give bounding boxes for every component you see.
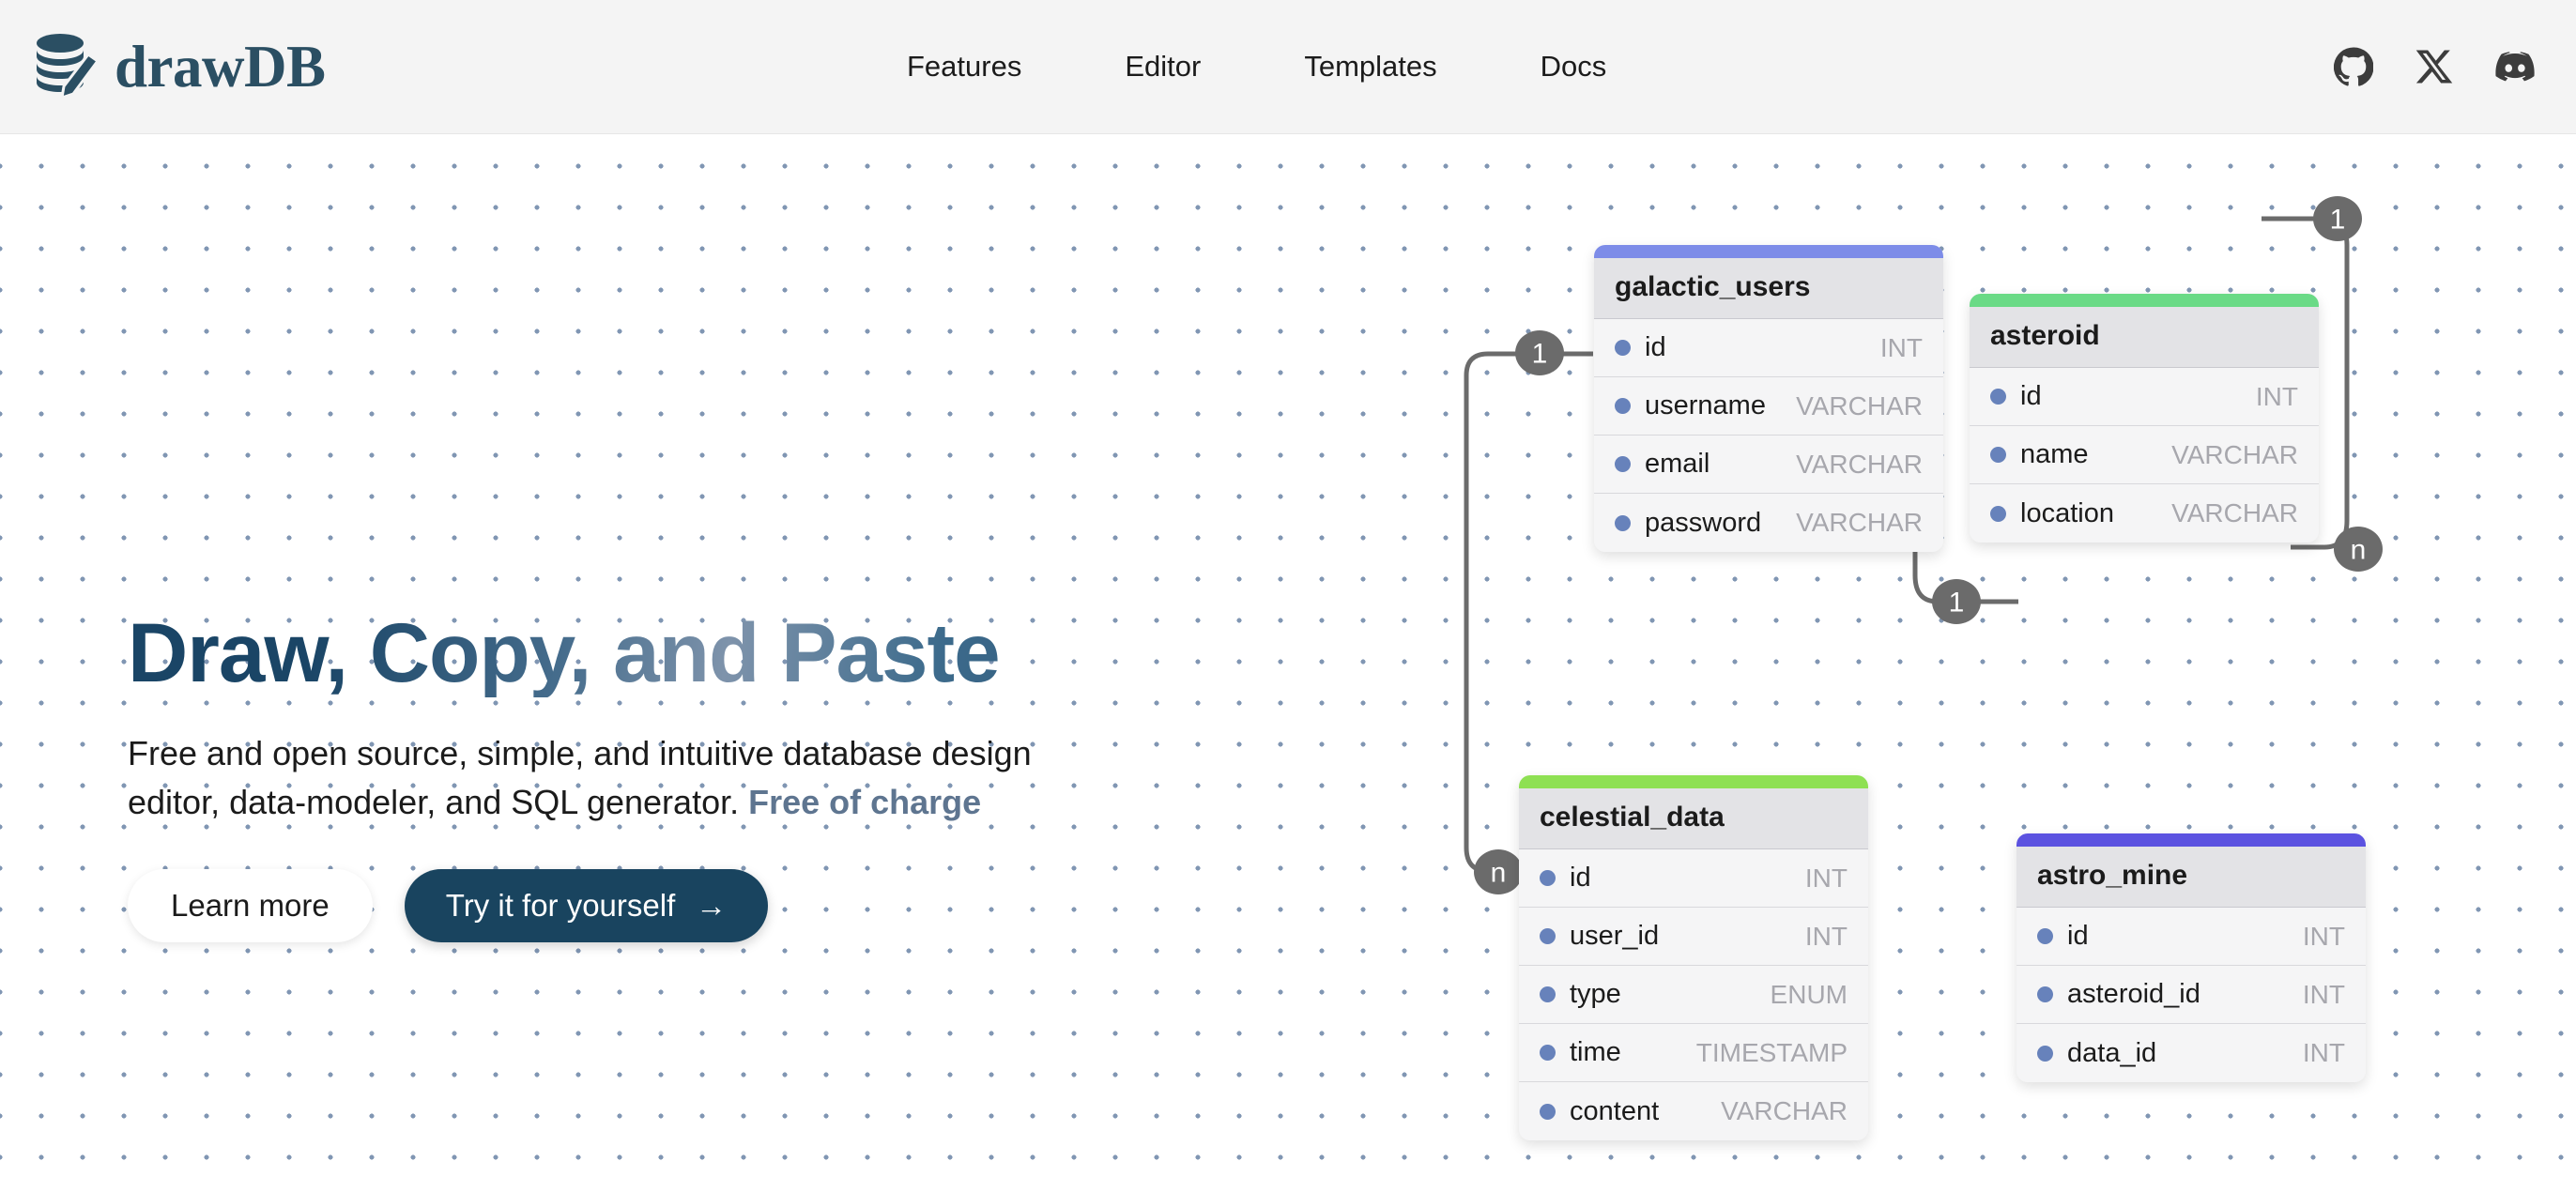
er-field-row[interactable]: id INT <box>1594 319 1943 377</box>
er-field-name: id <box>1570 863 1591 894</box>
er-field-type: TIMESTAMP <box>1696 1038 1848 1068</box>
main-nav: Features Editor Templates Docs <box>907 40 1606 93</box>
er-field-type: INT <box>1805 922 1848 952</box>
hero-actions: Learn more Try it for yourself → <box>128 869 1160 942</box>
er-table-accent-bar <box>1970 294 2319 307</box>
er-field-row[interactable]: name VARCHAR <box>1970 426 2319 484</box>
er-field-name: user_id <box>1570 921 1659 952</box>
cardinality-badge-astromine-data-1: 1 <box>1932 579 1981 624</box>
er-field-name: id <box>2020 381 2042 412</box>
svg-text:n: n <box>1491 858 1507 889</box>
er-table-celestial-data[interactable]: celestial_data id INT user_id INT type E… <box>1519 775 1868 1140</box>
er-field-row[interactable]: user_id INT <box>1519 908 1868 966</box>
er-field-type: INT <box>2303 980 2345 1010</box>
field-key-dot-icon <box>1990 447 2006 463</box>
er-field-row[interactable]: asteroid_id INT <box>2016 966 2366 1024</box>
er-field-type: INT <box>1805 863 1848 894</box>
er-field-type: ENUM <box>1771 980 1848 1010</box>
er-field-type: INT <box>2256 382 2298 412</box>
field-key-dot-icon <box>1540 870 1556 886</box>
field-key-dot-icon <box>2037 1046 2053 1062</box>
er-table-accent-bar <box>1594 245 1943 258</box>
database-pencil-icon <box>34 32 101 101</box>
try-it-button[interactable]: Try it for yourself → <box>405 869 769 942</box>
field-key-dot-icon <box>1990 389 2006 405</box>
er-field-row[interactable]: email VARCHAR <box>1594 436 1943 494</box>
er-field-type: INT <box>2303 922 2345 952</box>
er-field-row[interactable]: location VARCHAR <box>1970 484 2319 543</box>
site-header: drawDB Features Editor Templates Docs <box>0 0 2576 134</box>
nav-link-templates[interactable]: Templates <box>1304 40 1436 93</box>
svg-text:n: n <box>2351 535 2367 566</box>
er-field-row[interactable]: id INT <box>1519 849 1868 908</box>
er-field-type: VARCHAR <box>1796 508 1923 538</box>
nav-link-docs[interactable]: Docs <box>1541 40 1607 93</box>
er-table-astro-mine[interactable]: astro_mine id INT asteroid_id INT data_i… <box>2016 833 2366 1082</box>
hero-subtitle-accent: Free of charge <box>748 783 981 821</box>
er-table-title: galactic_users <box>1594 258 1943 319</box>
x-twitter-icon[interactable] <box>2415 47 2454 86</box>
hero-subtitle: Free and open source, simple, and intuit… <box>128 729 1104 827</box>
field-key-dot-icon <box>2037 986 2053 1002</box>
er-field-name: email <box>1645 449 1710 480</box>
er-field-name: name <box>2020 439 2089 470</box>
field-key-dot-icon <box>2037 928 2053 944</box>
discord-icon[interactable] <box>2495 47 2535 86</box>
field-key-dot-icon <box>1540 986 1556 1002</box>
svg-text:1: 1 <box>1532 339 1548 370</box>
er-field-type: INT <box>2303 1038 2345 1068</box>
er-field-name: location <box>2020 498 2114 529</box>
er-table-asteroid[interactable]: asteroid id INT name VARCHAR location VA… <box>1970 294 2319 543</box>
er-field-name: content <box>1570 1096 1659 1127</box>
er-field-name: asteroid_id <box>2067 979 2200 1010</box>
field-key-dot-icon <box>1615 398 1631 414</box>
er-field-name: data_id <box>2067 1038 2156 1069</box>
er-field-row[interactable]: content VARCHAR <box>1519 1082 1868 1140</box>
nav-link-editor[interactable]: Editor <box>1125 40 1201 93</box>
er-table-accent-bar <box>1519 775 1868 788</box>
er-field-name: password <box>1645 508 1761 539</box>
er-field-type: VARCHAR <box>1796 450 1923 480</box>
brand-logo-link[interactable]: drawDB <box>34 32 326 101</box>
field-key-dot-icon <box>1990 506 2006 522</box>
er-table-title: asteroid <box>1970 307 2319 368</box>
cardinality-badge-astromine-asteroid-n: n <box>2334 527 2383 572</box>
github-icon[interactable] <box>2334 47 2373 86</box>
nav-link-features[interactable]: Features <box>907 40 1021 93</box>
social-links <box>2334 47 2535 86</box>
field-key-dot-icon <box>1540 928 1556 944</box>
er-field-type: VARCHAR <box>2171 440 2298 470</box>
er-field-name: id <box>2067 921 2089 952</box>
diagram-canvas[interactable]: 1 n 1 1 1 n galactic_users id INT <box>0 134 2576 1192</box>
arrow-right-icon: → <box>696 890 727 921</box>
learn-more-button[interactable]: Learn more <box>128 869 373 942</box>
field-key-dot-icon <box>1540 1045 1556 1061</box>
er-table-accent-bar <box>2016 833 2366 847</box>
er-field-row[interactable]: id INT <box>2016 908 2366 966</box>
svg-text:1: 1 <box>1949 588 1965 619</box>
er-field-type: VARCHAR <box>2171 498 2298 528</box>
er-field-row[interactable]: password VARCHAR <box>1594 494 1943 552</box>
er-field-type: VARCHAR <box>1721 1096 1848 1126</box>
field-key-dot-icon <box>1540 1104 1556 1120</box>
svg-text:1: 1 <box>2330 205 2346 236</box>
er-field-row[interactable]: time TIMESTAMP <box>1519 1024 1868 1082</box>
er-table-title: astro_mine <box>2016 847 2366 908</box>
cardinality-badge-users-1: 1 <box>1515 330 1564 375</box>
er-field-row[interactable]: type ENUM <box>1519 966 1868 1024</box>
field-key-dot-icon <box>1615 515 1631 531</box>
try-it-button-label: Try it for yourself <box>446 888 676 924</box>
er-field-name: username <box>1645 390 1766 421</box>
field-key-dot-icon <box>1615 456 1631 472</box>
er-table-title: celestial_data <box>1519 788 1868 849</box>
er-field-name: id <box>1645 332 1666 363</box>
er-field-row[interactable]: id INT <box>1970 368 2319 426</box>
er-field-name: time <box>1570 1037 1621 1068</box>
er-field-type: VARCHAR <box>1796 391 1923 421</box>
brand-name: drawDB <box>115 38 326 97</box>
er-table-galactic-users[interactable]: galactic_users id INT username VARCHAR e… <box>1594 245 1943 552</box>
er-field-name: type <box>1570 979 1621 1010</box>
er-field-type: INT <box>1880 333 1923 363</box>
hero-section: Draw, Copy, and Paste Free and open sour… <box>128 608 1160 942</box>
cardinality-badge-asteroid-1: 1 <box>2313 196 2362 241</box>
er-field-row[interactable]: username VARCHAR <box>1594 377 1943 436</box>
er-field-row[interactable]: data_id INT <box>2016 1024 2366 1082</box>
field-key-dot-icon <box>1615 340 1631 356</box>
cardinality-badge-celestial-n: n <box>1474 849 1523 894</box>
page-title: Draw, Copy, and Paste <box>128 608 1160 697</box>
